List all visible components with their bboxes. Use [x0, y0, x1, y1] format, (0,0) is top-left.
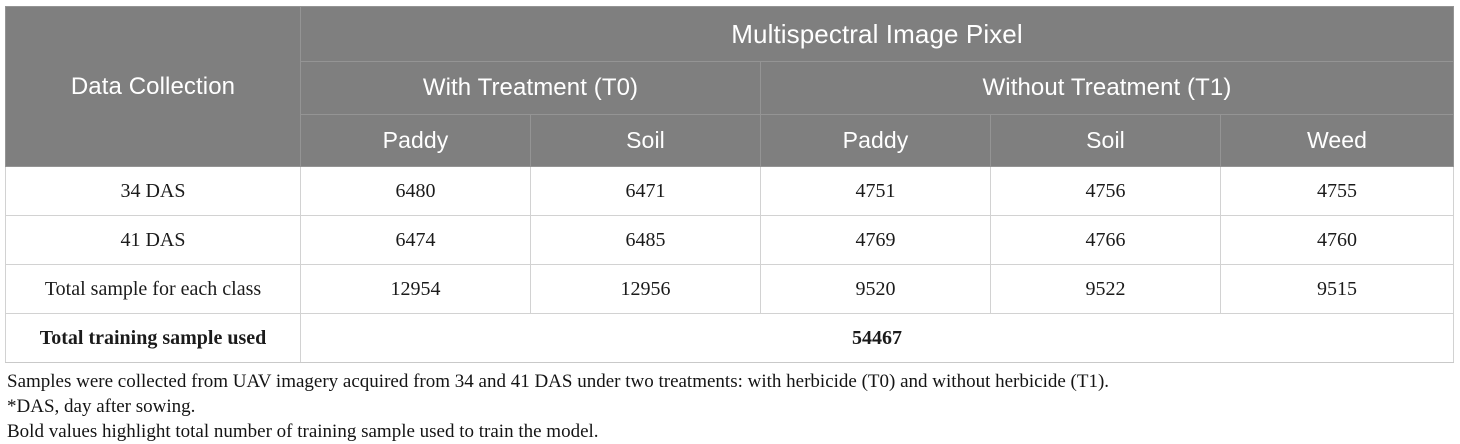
header-cell-data-collection: Data Collection [6, 7, 301, 167]
row-label-41-das: 41 DAS [6, 216, 301, 265]
table-row: 34 DAS 6480 6471 4751 4756 4755 [6, 167, 1454, 216]
cell-41das-t1-soil: 4766 [991, 216, 1221, 265]
row-label-total-training-sample-used: Total training sample used [6, 314, 301, 363]
header-cell-t0-paddy: Paddy [301, 115, 531, 167]
header-cell-multispectral-image-pixel: Multispectral Image Pixel [301, 7, 1454, 62]
cell-total-t1-soil: 9522 [991, 265, 1221, 314]
footnote-line: Bold values highlight total number of tr… [7, 419, 1453, 444]
table-header: Data Collection Multispectral Image Pixe… [6, 7, 1454, 167]
header-cell-t1-weed: Weed [1221, 115, 1454, 167]
cell-41das-t1-weed: 4760 [1221, 216, 1454, 265]
cell-total-t1-weed: 9515 [1221, 265, 1454, 314]
table-row-total: Total training sample used 54467 [6, 314, 1454, 363]
cell-34das-t1-soil: 4756 [991, 167, 1221, 216]
header-row-spanner: Data Collection Multispectral Image Pixe… [6, 7, 1454, 62]
header-cell-without-treatment-t1: Without Treatment (T1) [761, 62, 1454, 115]
header-cell-t1-soil: Soil [991, 115, 1221, 167]
multispectral-image-pixel-table: Data Collection Multispectral Image Pixe… [5, 6, 1454, 363]
header-cell-with-treatment-t0: With Treatment (T0) [301, 62, 761, 115]
table-figure: Data Collection Multispectral Image Pixe… [0, 0, 1460, 443]
table-footnotes: Samples were collected from UAV imagery … [5, 369, 1453, 444]
cell-34das-t1-weed: 4755 [1221, 167, 1454, 216]
table-row: Total sample for each class 12954 12956 … [6, 265, 1454, 314]
cell-41das-t1-paddy: 4769 [761, 216, 991, 265]
row-label-34-das: 34 DAS [6, 167, 301, 216]
row-label-total-sample-each-class: Total sample for each class [6, 265, 301, 314]
footnote-line: *DAS, day after sowing. [7, 394, 1453, 419]
cell-34das-t0-paddy: 6480 [301, 167, 531, 216]
cell-total-t0-paddy: 12954 [301, 265, 531, 314]
cell-41das-t0-soil: 6485 [531, 216, 761, 265]
footnote-line: Samples were collected from UAV imagery … [7, 369, 1453, 394]
cell-34das-t0-soil: 6471 [531, 167, 761, 216]
table-body: 34 DAS 6480 6471 4751 4756 4755 41 DAS 6… [6, 167, 1454, 363]
cell-41das-t0-paddy: 6474 [301, 216, 531, 265]
cell-total-t0-soil: 12956 [531, 265, 761, 314]
table-row: 41 DAS 6474 6485 4769 4766 4760 [6, 216, 1454, 265]
cell-34das-t1-paddy: 4751 [761, 167, 991, 216]
cell-total-training-sample-value: 54467 [301, 314, 1454, 363]
header-cell-t1-paddy: Paddy [761, 115, 991, 167]
header-cell-t0-soil: Soil [531, 115, 761, 167]
cell-total-t1-paddy: 9520 [761, 265, 991, 314]
